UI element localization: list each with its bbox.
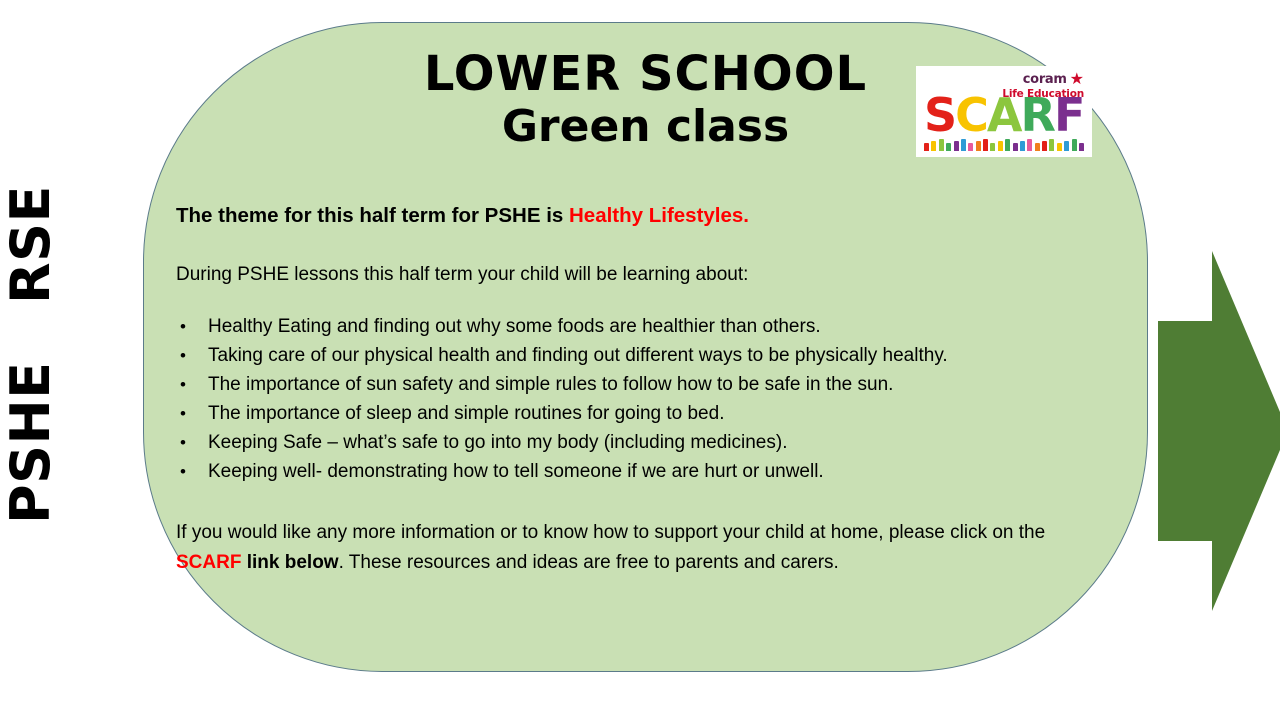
scarf-letter-f: F bbox=[1054, 92, 1083, 138]
person-icon bbox=[1057, 143, 1062, 151]
person-icon bbox=[1013, 143, 1018, 151]
learning-objective-item: The importance of sun safety and simple … bbox=[176, 370, 1101, 399]
vertical-label-rse: RSE bbox=[4, 185, 58, 304]
person-icon bbox=[998, 141, 1003, 151]
vertical-subject-label: RSE PSHE bbox=[0, 0, 150, 720]
closing-paragraph: If you would like any more information o… bbox=[176, 518, 1101, 578]
learning-objective-item: Keeping Safe – what’s safe to go into my… bbox=[176, 428, 1101, 457]
star-icon: ★ bbox=[1070, 72, 1084, 88]
theme-statement-highlight: Healthy Lifestyles. bbox=[569, 204, 749, 227]
scarf-wordmark: SCARF bbox=[924, 92, 1083, 138]
theme-statement: The theme for this half term for PSHE is… bbox=[176, 203, 1101, 229]
person-icon bbox=[939, 139, 944, 151]
learning-objective-item: The importance of sleep and simple routi… bbox=[176, 399, 1101, 428]
person-icon bbox=[1042, 141, 1047, 151]
learning-objective-item: Keeping well- demonstrating how to tell … bbox=[176, 457, 1101, 486]
person-icon bbox=[968, 143, 973, 151]
person-icon bbox=[990, 143, 995, 151]
closing-text-part2: . These resources and ideas are free to … bbox=[339, 552, 839, 573]
scarf-letter-a: A bbox=[987, 92, 1021, 138]
content-panel: LOWER SCHOOL Green class coram★ Life Edu… bbox=[143, 22, 1148, 672]
person-icon bbox=[961, 139, 966, 151]
scarf-link-label[interactable]: SCARF bbox=[176, 552, 241, 573]
learning-objectives-list: Healthy Eating and finding out why some … bbox=[176, 312, 1101, 486]
person-icon bbox=[931, 141, 936, 151]
scarf-people-figures bbox=[924, 137, 1084, 151]
arrow-right-icon[interactable] bbox=[1158, 251, 1280, 611]
theme-statement-prefix: The theme for this half term for PSHE is bbox=[176, 204, 569, 227]
scarf-logo: coram★ Life Education SCARF bbox=[916, 66, 1092, 157]
person-icon bbox=[1020, 141, 1025, 151]
lesson-intro-text: During PSHE lessons this half term your … bbox=[176, 263, 1101, 287]
scarf-letter-c: C bbox=[955, 92, 987, 138]
learning-objective-item: Healthy Eating and finding out why some … bbox=[176, 312, 1101, 341]
learning-objective-item: Taking care of our physical health and f… bbox=[176, 341, 1101, 370]
person-icon bbox=[946, 143, 951, 151]
scarf-letter-s: S bbox=[924, 92, 955, 138]
person-icon bbox=[1072, 139, 1077, 151]
person-icon bbox=[983, 139, 988, 151]
vertical-label-pshe: PSHE bbox=[4, 361, 58, 524]
person-icon bbox=[954, 141, 959, 151]
next-slide-arrow[interactable] bbox=[1158, 251, 1280, 611]
person-icon bbox=[924, 143, 929, 151]
person-icon bbox=[976, 141, 981, 151]
panel-body: The theme for this half term for PSHE is… bbox=[176, 203, 1101, 578]
person-icon bbox=[1064, 141, 1069, 151]
person-icon bbox=[1035, 143, 1040, 151]
person-icon bbox=[1027, 139, 1032, 151]
person-icon bbox=[1049, 139, 1054, 151]
scarf-letter-r: R bbox=[1021, 92, 1054, 138]
link-below-label: link below bbox=[241, 552, 338, 573]
coram-wordmark: coram bbox=[1023, 73, 1067, 87]
closing-text-part1: If you would like any more information o… bbox=[176, 522, 1045, 543]
person-icon bbox=[1079, 143, 1084, 151]
person-icon bbox=[1005, 139, 1010, 151]
